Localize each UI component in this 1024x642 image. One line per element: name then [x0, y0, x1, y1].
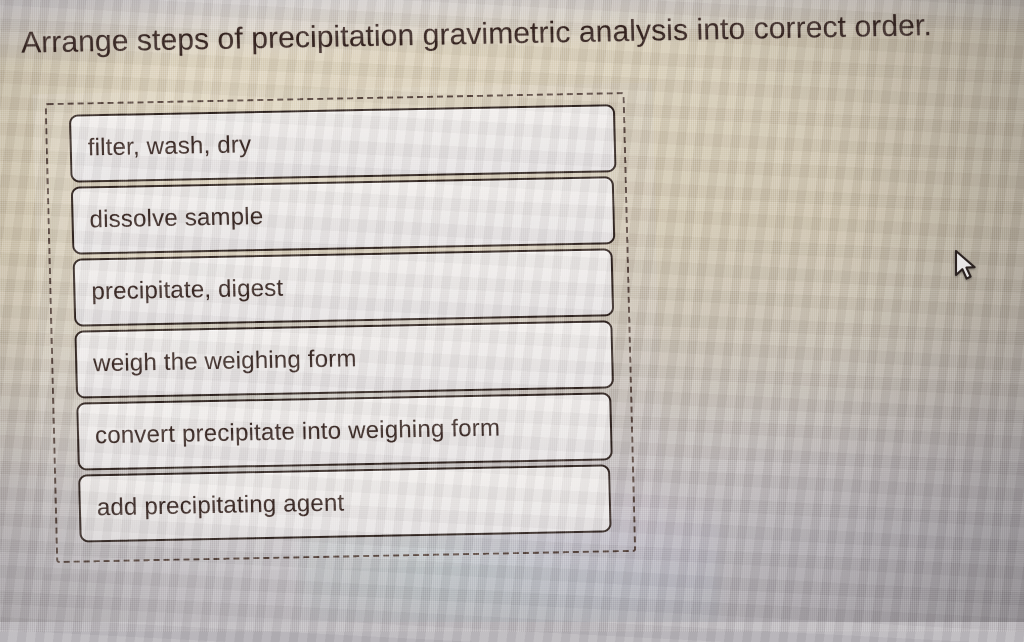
list-item[interactable]: dissolve sample: [71, 176, 616, 254]
list-item[interactable]: filter, wash, dry: [69, 104, 617, 182]
list-item-label: filter, wash, dry: [87, 131, 251, 162]
page-title: Arrange steps of precipitation gravimetr…: [21, 8, 952, 61]
list-item[interactable]: convert precipitate into weighing form: [76, 392, 613, 470]
list-item[interactable]: precipitate, digest: [73, 248, 615, 326]
ordering-item-list: filter, wash, dry dissolve sample precip…: [69, 104, 620, 542]
list-item-label: convert precipitate into weighing form: [95, 414, 501, 450]
list-item-label: precipitate, digest: [91, 275, 284, 307]
list-item-label: weigh the weighing form: [93, 345, 357, 378]
list-item[interactable]: weigh the weighing form: [74, 320, 614, 398]
list-item-label: dissolve sample: [89, 203, 263, 234]
quiz-page: Arrange steps of precipitation gravimetr…: [0, 0, 1024, 622]
list-item[interactable]: add precipitating agent: [78, 464, 612, 542]
list-item-label: add precipitating agent: [97, 489, 345, 522]
